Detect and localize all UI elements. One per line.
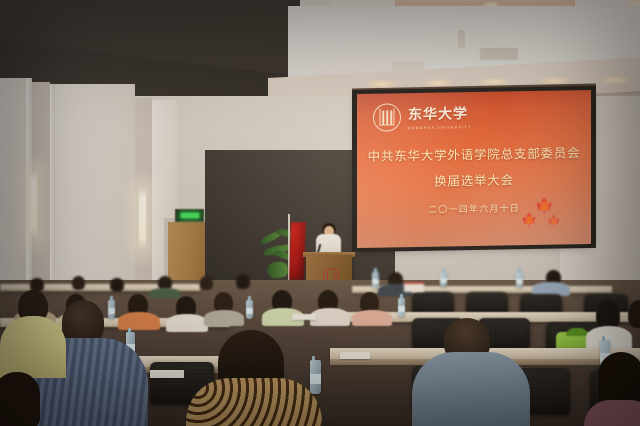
wall-sconce-light bbox=[139, 186, 146, 252]
palm-frond bbox=[267, 261, 289, 279]
screen-sheen bbox=[357, 90, 591, 248]
chinese-national-flag bbox=[289, 222, 306, 280]
attendee-body bbox=[0, 316, 66, 378]
attendee-body bbox=[204, 310, 244, 326]
water-bottle bbox=[398, 298, 405, 317]
water-bottle bbox=[246, 300, 253, 319]
attendee-body bbox=[412, 352, 530, 426]
document-paper bbox=[292, 314, 316, 320]
water-bottle bbox=[108, 300, 115, 319]
attendee-head bbox=[236, 274, 250, 289]
water-bottle bbox=[440, 272, 447, 287]
attendee-head bbox=[72, 276, 85, 290]
water-bottle bbox=[310, 360, 321, 394]
wall-fin-edge bbox=[50, 84, 55, 294]
attendee-body bbox=[310, 308, 350, 326]
wall-fixture bbox=[458, 30, 465, 48]
projection-screen: 东华大学 DONGHUA UNIVERSITY 中共东华大学外语学院总支部委员会… bbox=[357, 90, 591, 248]
wall-vent bbox=[480, 48, 518, 60]
attendee-head bbox=[200, 276, 213, 290]
projected-slide: 东华大学 DONGHUA UNIVERSITY 中共东华大学外语学院总支部委员会… bbox=[357, 90, 591, 248]
conference-hall-photo: 东华大学 DONGHUA UNIVERSITY 中共东华大学外语学院总支部委员会… bbox=[0, 0, 640, 426]
attendee-body bbox=[186, 378, 322, 426]
water-bottle bbox=[516, 272, 523, 288]
attendee-body bbox=[150, 288, 180, 298]
backpack-strap bbox=[566, 328, 588, 336]
emergency-exit-sign bbox=[175, 209, 204, 222]
document-paper bbox=[340, 352, 370, 359]
wall-fin bbox=[50, 84, 135, 294]
attendee-head bbox=[0, 372, 40, 426]
document-paper bbox=[150, 370, 184, 378]
wall-sconce-light bbox=[30, 168, 37, 242]
attendee-body bbox=[118, 312, 160, 330]
stage-downlight bbox=[600, 76, 630, 84]
attendee-head bbox=[628, 300, 640, 328]
name-card bbox=[404, 282, 424, 292]
water-bottle bbox=[372, 272, 379, 288]
attendee-body bbox=[166, 314, 208, 332]
attendee-head bbox=[110, 278, 124, 292]
attendee-body bbox=[352, 310, 392, 326]
